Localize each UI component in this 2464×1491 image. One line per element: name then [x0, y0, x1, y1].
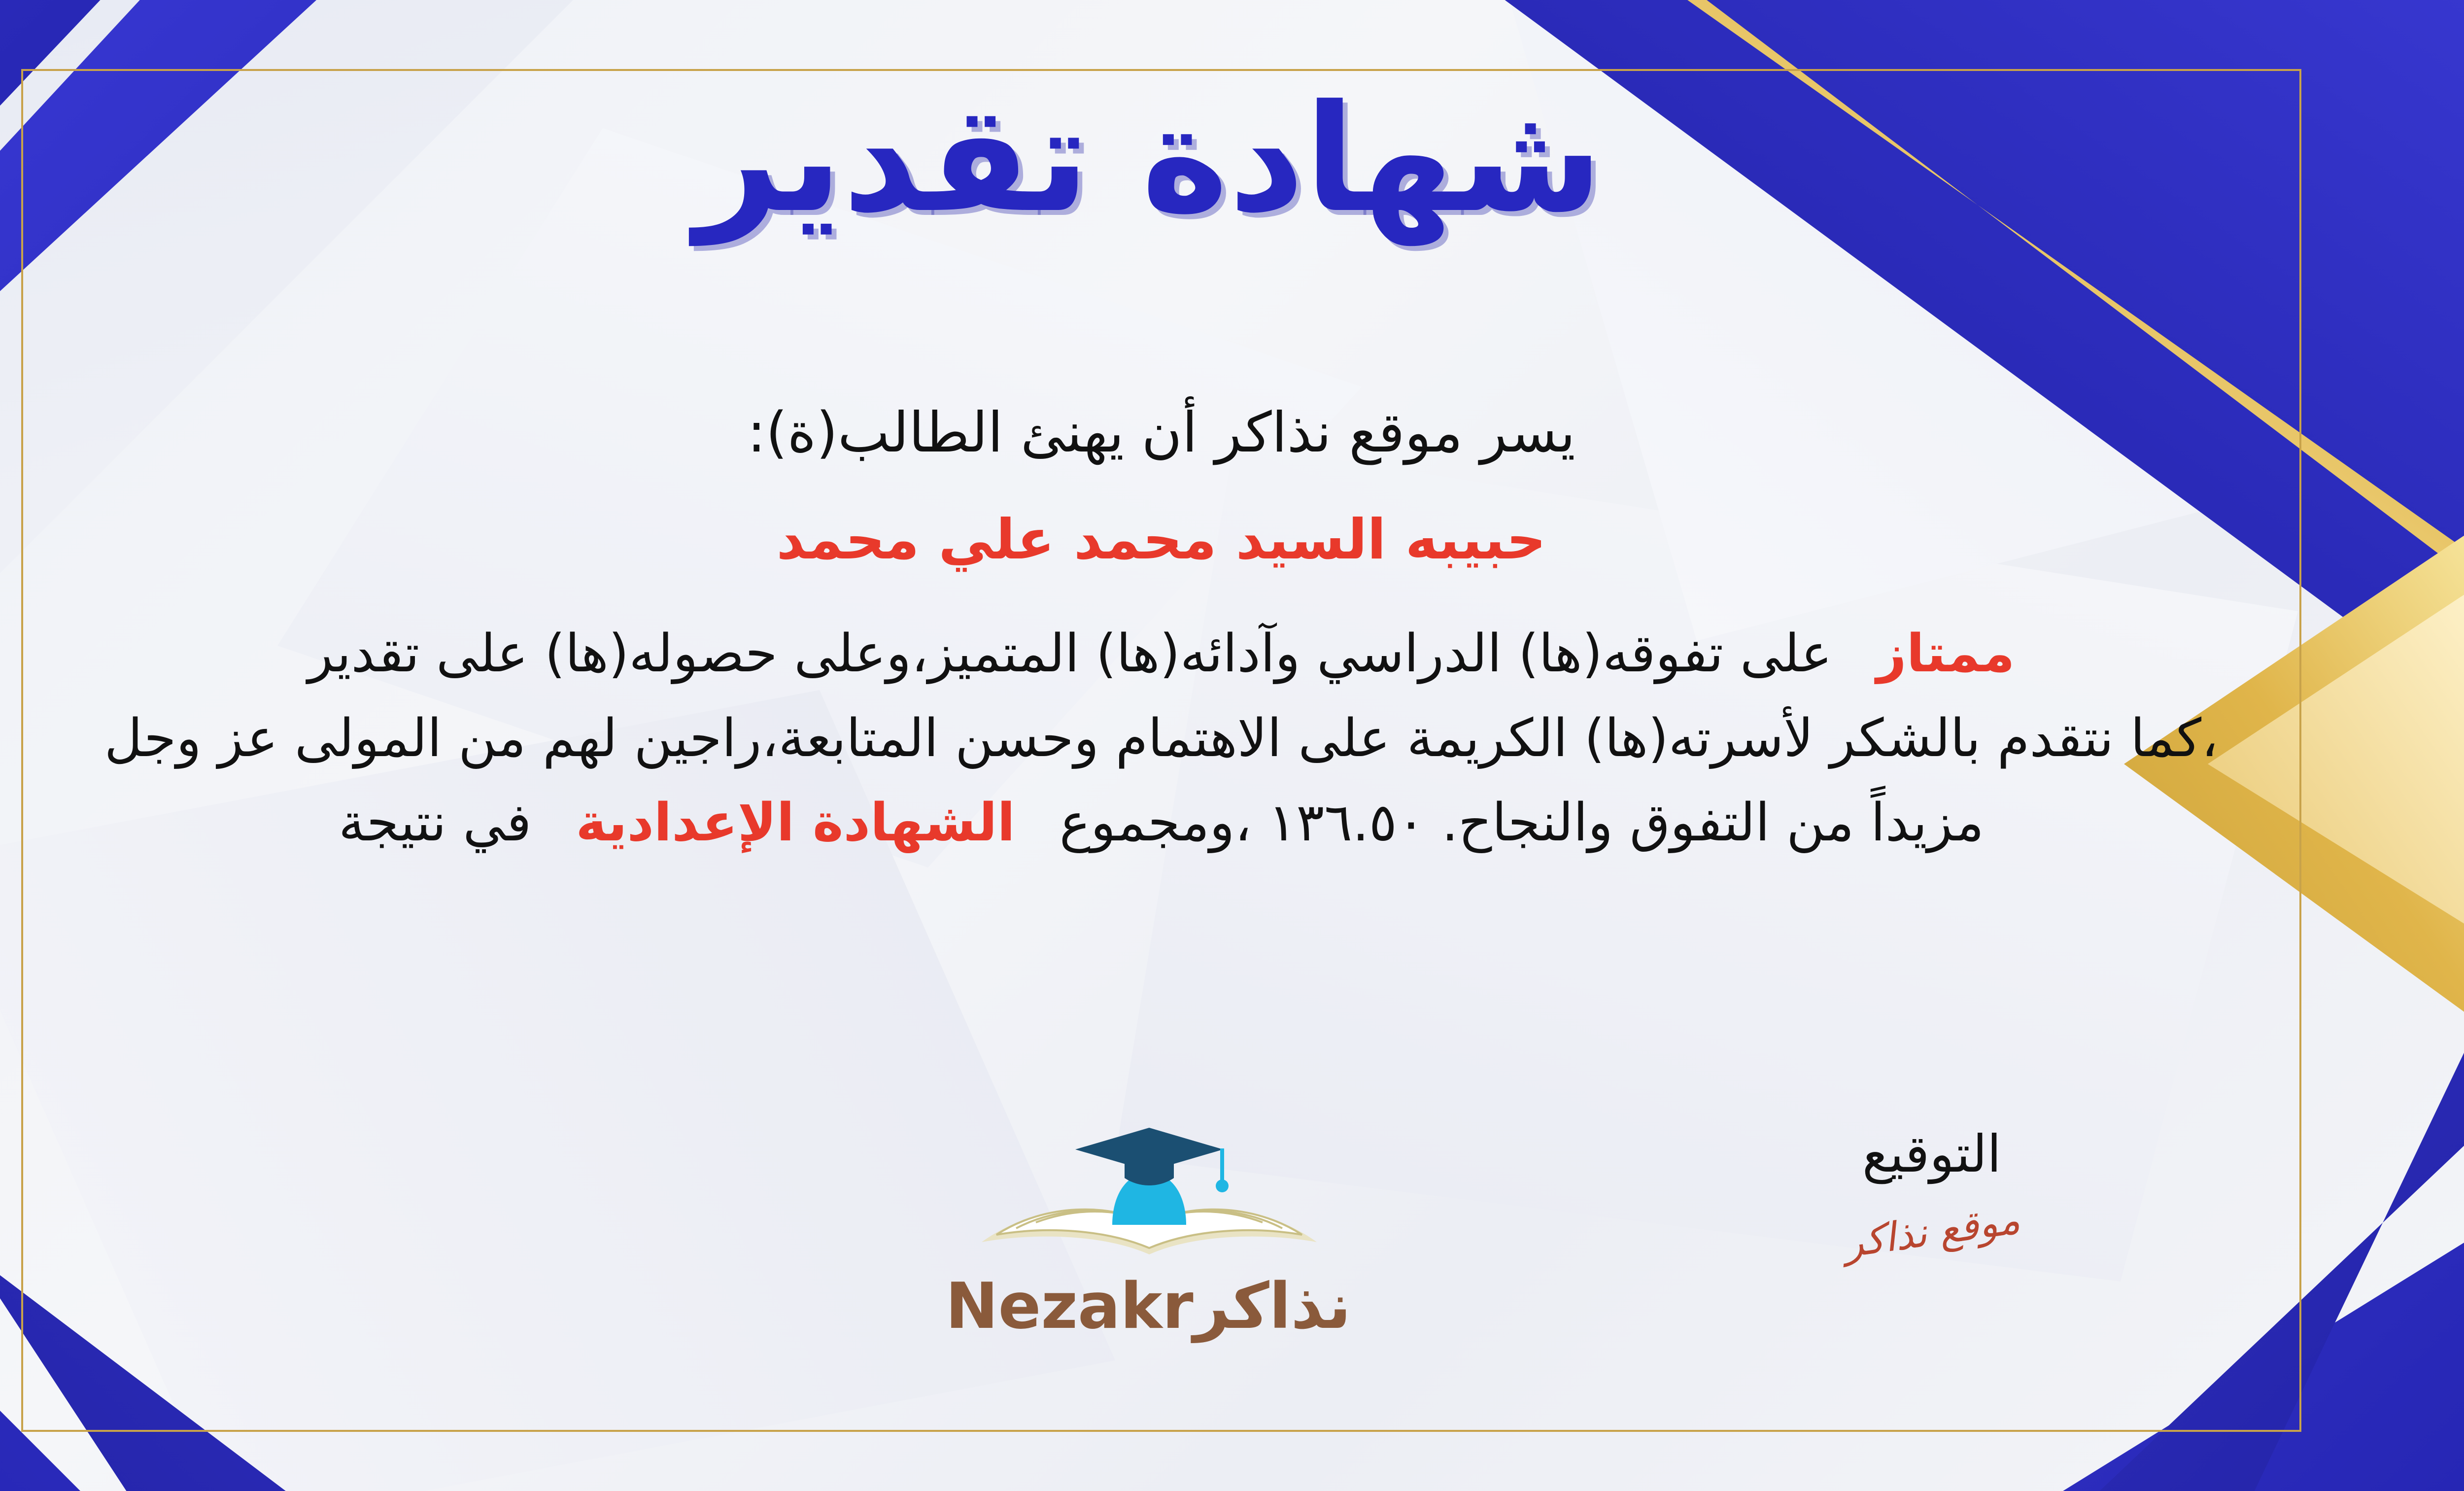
- certificate-content: شهادة تقدير يسر موقع نذاكر أن يهنئ الطال…: [0, 0, 2464, 1491]
- achievement-paragraph: ممتازعلى تفوقه(ها) الدراسي وآدائه(ها) ال…: [46, 611, 2277, 865]
- logo-wordmark: نذاكرNezakr: [947, 1270, 1351, 1343]
- paragraph-part-3: ،ومجموع: [1060, 792, 1252, 853]
- signature-label: التوقيع: [1804, 1124, 2060, 1184]
- paragraph-part-1: على تفوقه(ها) الدراسي وآدائه(ها) المتميز…: [308, 623, 1832, 684]
- student-name: حبيبه السيد محمد علي محمد: [46, 496, 2277, 584]
- certificate-body: يسر موقع نذاكر أن يهنئ الطالب(ة): حبيبه …: [46, 389, 2277, 865]
- site-logo: نذاكرNezakr: [947, 1119, 1351, 1343]
- graduation-cap-book-icon: [962, 1119, 1336, 1267]
- signature-handwriting: موقع نذاكر: [1802, 1191, 2062, 1272]
- score-value: ١٣٦.٥٠: [1268, 792, 1425, 853]
- grade-value: ممتاز: [1877, 623, 2015, 684]
- paragraph-part-2: في نتيجة: [339, 792, 531, 853]
- logo-text-latin: Nezakr: [946, 1270, 1194, 1343]
- exam-name: الشهادة الإعدادية: [576, 792, 1015, 853]
- certificate-page: شهادة تقدير يسر موقع نذاكر أن يهنئ الطال…: [0, 0, 2464, 1491]
- signature-area: التوقيع موقع نذاكر: [1804, 1124, 2060, 1254]
- intro-line: يسر موقع نذاكر أن يهنئ الطالب(ة):: [46, 389, 2277, 477]
- logo-text-arabic: نذاكر: [1194, 1270, 1351, 1343]
- certificate-title: شهادة تقدير: [0, 74, 2464, 244]
